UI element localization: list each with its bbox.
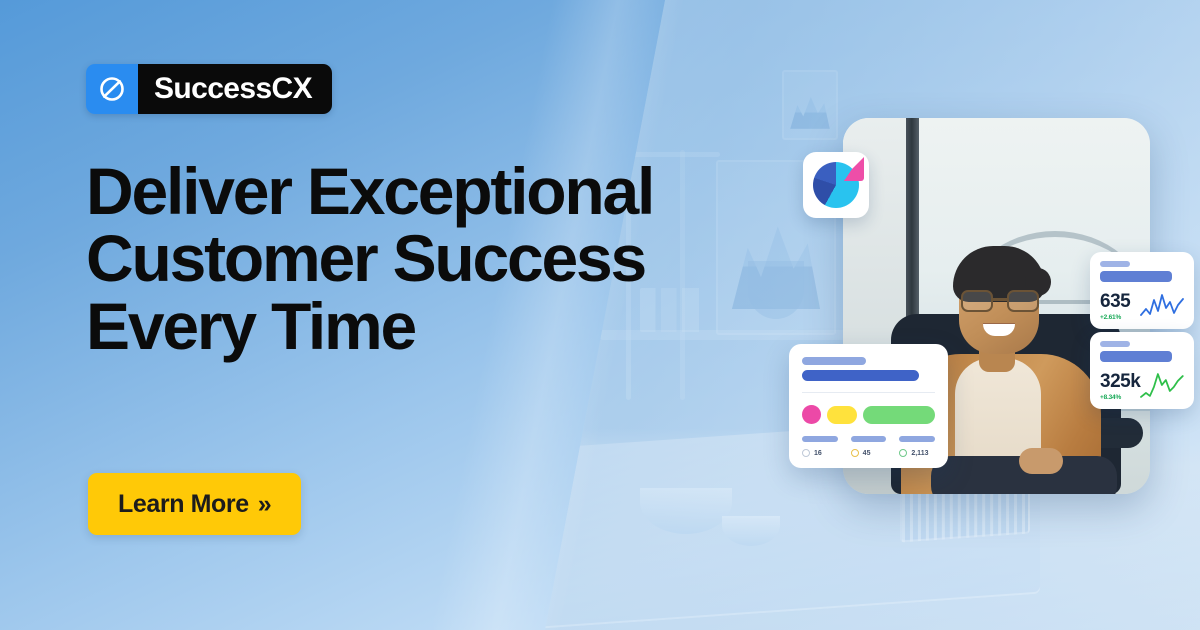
dashboard-widget[interactable]: 16 45 2,113 [789,344,948,468]
circle-slash-logo-icon [86,64,138,114]
divider [802,392,935,393]
stat-skeleton-short [1100,261,1130,267]
brand-logo[interactable]: SuccessCX [86,64,332,114]
dash-pill-row [802,405,935,424]
stat-skeleton-long [1100,351,1172,362]
dash-skeleton-long [802,370,919,381]
stat-skeleton-short [1100,341,1130,347]
dash-metric: 45 [851,449,887,457]
dash-metric: 16 [802,449,838,457]
dash-metric-value: 45 [863,450,871,457]
dash-metric: 2,113 [899,449,935,457]
headline-line-1: Deliver Exceptional [86,158,786,225]
pie-chart-icon [813,162,859,208]
stat-card-325k[interactable]: 325k +8.34% [1090,332,1194,409]
brand-name: SuccessCX [138,64,332,114]
learn-more-button[interactable]: Learn More » [88,473,301,535]
chevron-double-right-icon: » [258,490,272,519]
sparkline-green-icon [1140,371,1184,401]
eyeglasses-icon [961,290,1039,312]
green-pill [863,406,935,424]
hands [1019,448,1063,474]
cta-label: Learn More [118,490,249,519]
headline-line-2: Customer Success [86,225,786,292]
dash-metric-value: 16 [814,450,822,457]
yellow-pill [827,406,857,424]
dash-metric-row: 16 45 2,113 [802,449,935,457]
status-ring-icon [851,449,859,457]
status-ring-icon [899,449,907,457]
marketing-banner: SuccessCX Deliver Exceptional Customer S… [0,0,1200,630]
pie-chart-widget[interactable] [803,152,869,218]
sparkline-blue-icon [1140,291,1184,321]
stat-skeleton-long [1100,271,1172,282]
headline-line-3: Every Time [86,293,786,360]
dash-metric-value: 2,113 [911,450,928,457]
dash-bar-row [802,436,935,442]
dash-skeleton-short [802,357,866,365]
stat-card-635[interactable]: 635 +2.61% [1090,252,1194,329]
stat-value: 635 [1100,292,1130,311]
page-title: Deliver Exceptional Customer Success Eve… [86,158,786,360]
stat-delta: +8.34% [1100,394,1140,401]
pink-dot-icon [802,405,821,424]
status-ring-icon [802,449,810,457]
stat-value: 325k [1100,372,1140,391]
stat-delta: +2.61% [1100,314,1130,321]
pie-highlight-slice [840,157,864,181]
